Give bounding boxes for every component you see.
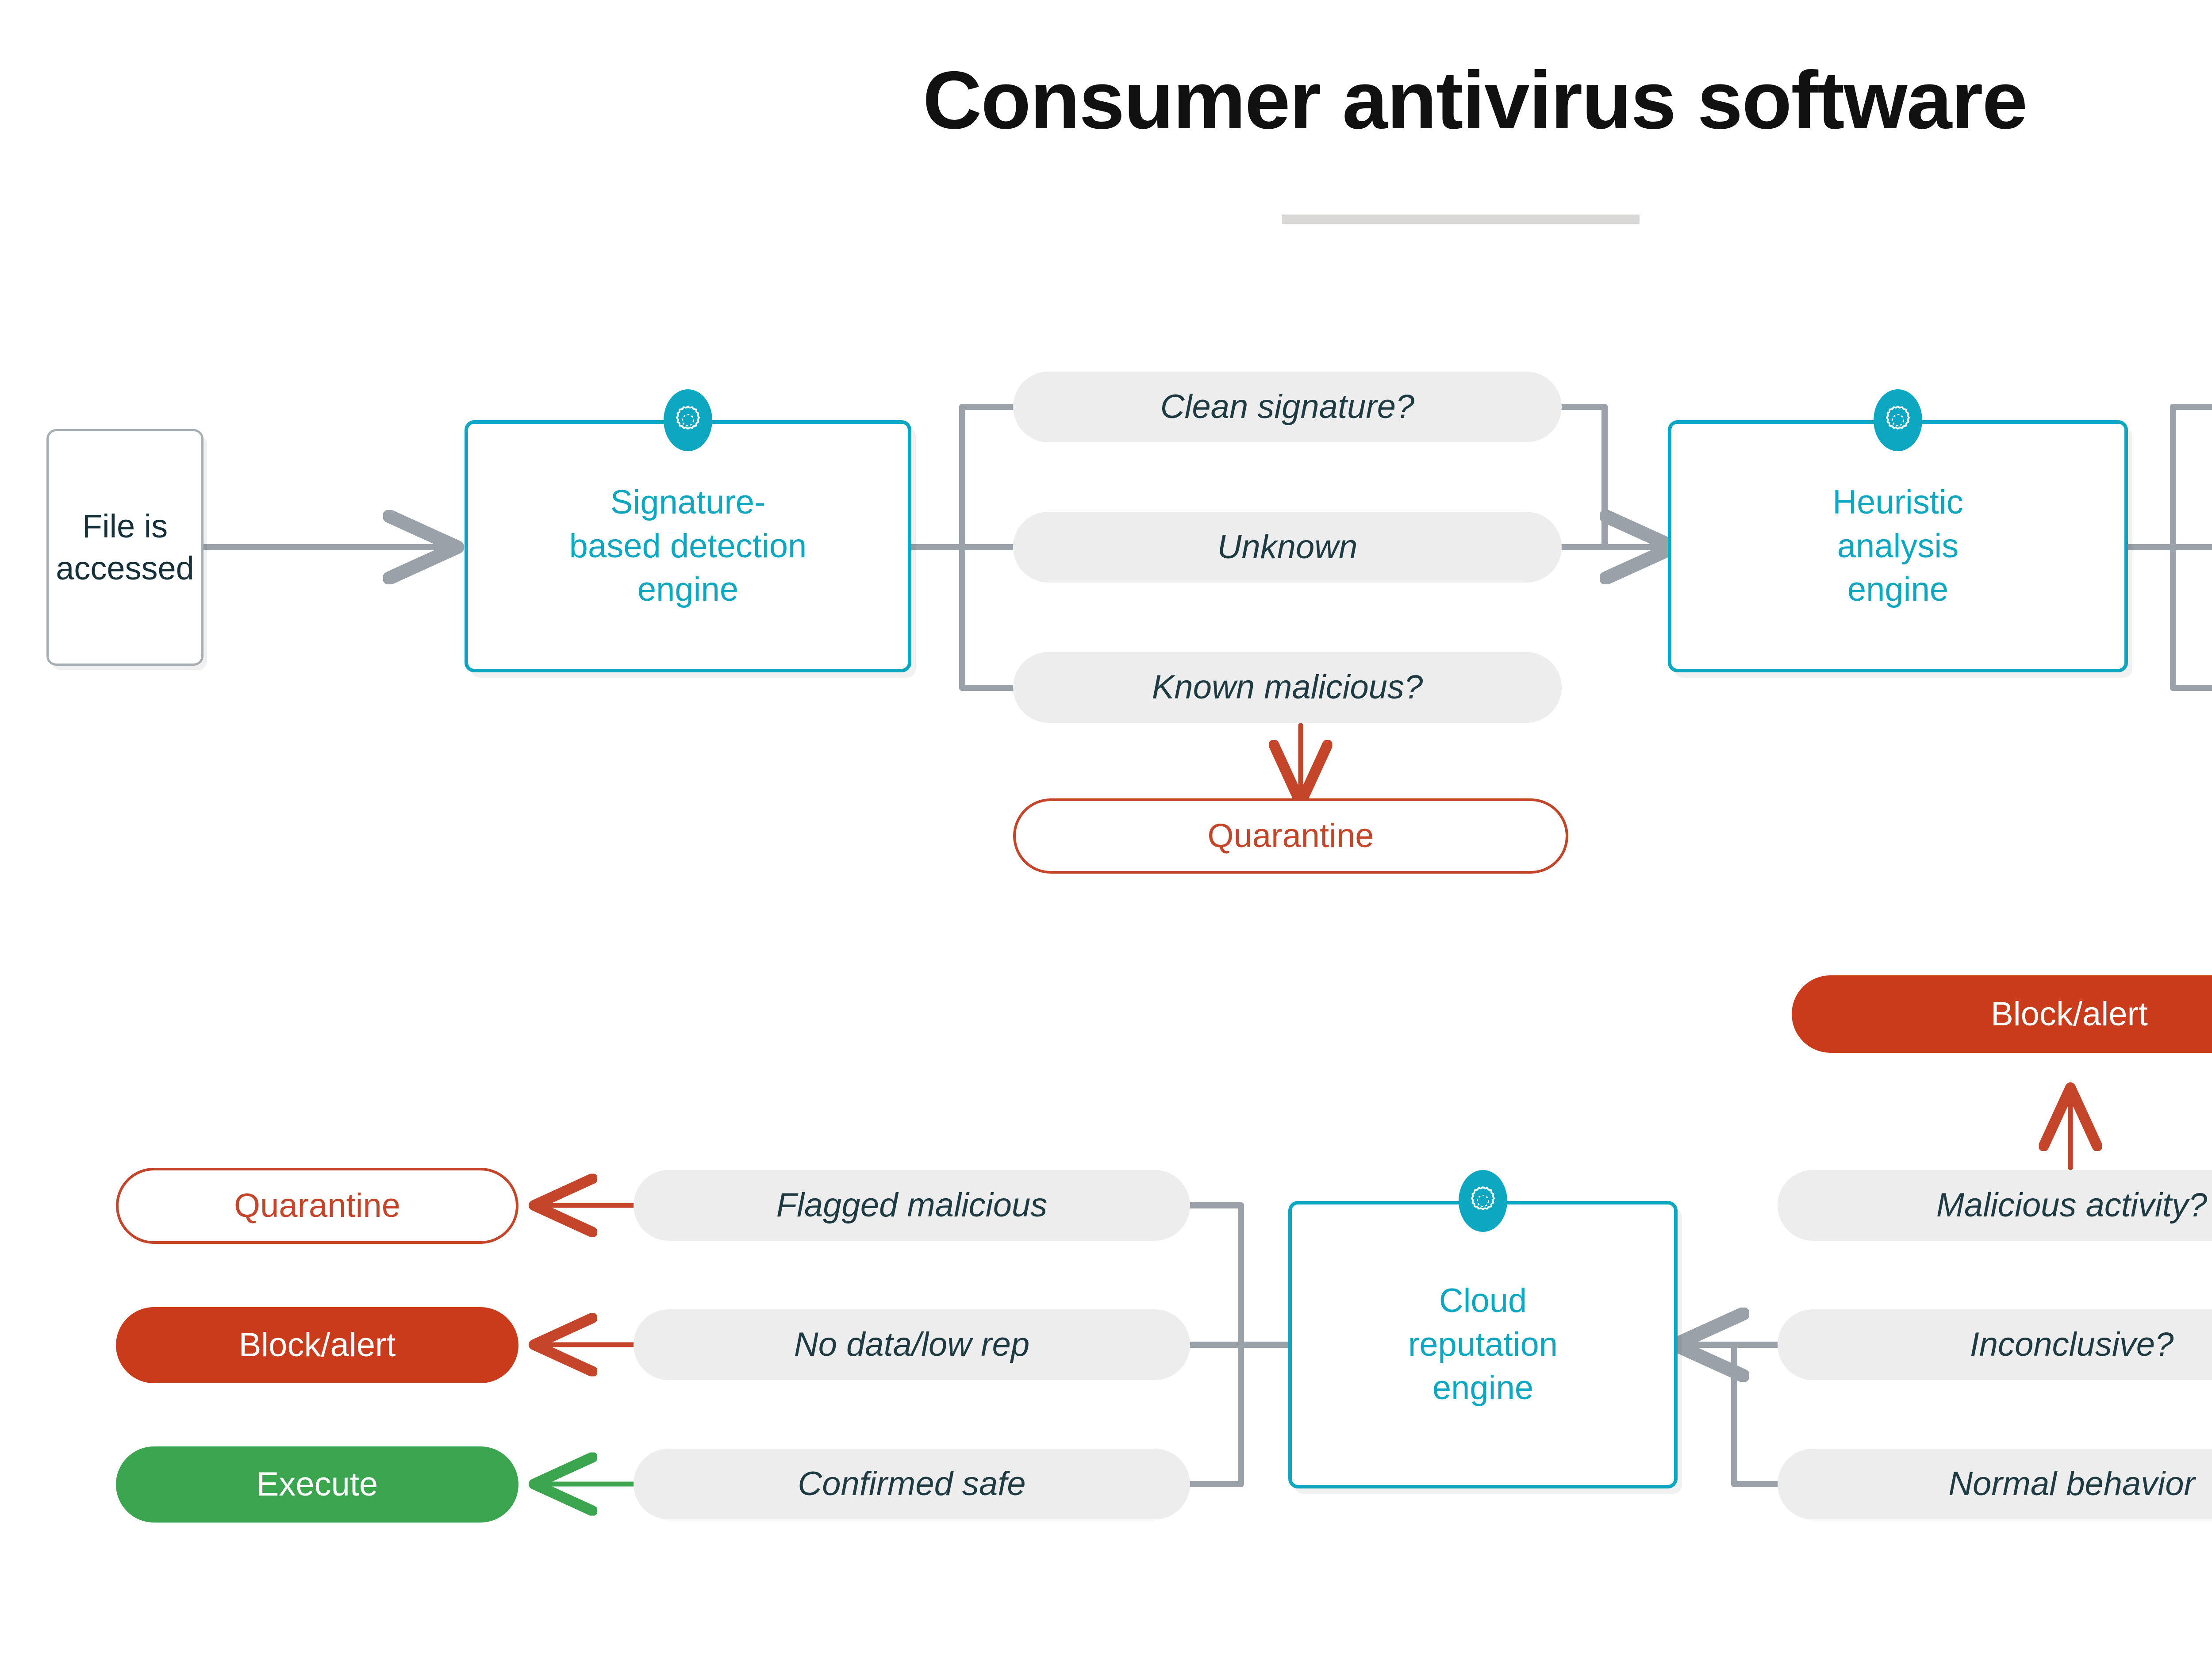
pill-malicious-activity[interactable]: Malicious activity? xyxy=(1778,1170,2212,1241)
action-block-behavior[interactable]: Block/alert xyxy=(1792,975,2212,1053)
pill-label: Confirmed safe xyxy=(798,1467,1025,1501)
node-heuristic-engine[interactable]: Heuristic analysis engine xyxy=(1668,420,2128,672)
pill-inconclusive[interactable]: Inconclusive? xyxy=(1778,1309,2212,1380)
pill-label: Flagged malicious xyxy=(776,1189,1048,1222)
action-quarantine-signature[interactable]: Quarantine xyxy=(1013,798,1568,874)
pill-label: Clean signature? xyxy=(1160,390,1415,424)
pill-label: Malicious activity? xyxy=(1936,1189,2207,1222)
node-label: Signature- based detection engine xyxy=(569,481,807,612)
node-label: Heuristic analysis engine xyxy=(1832,481,1963,612)
node-cloud-engine[interactable]: Cloud reputation engine xyxy=(1288,1201,1678,1488)
pill-unknown[interactable]: Unknown xyxy=(1013,512,1562,583)
pill-label: No data/low rep xyxy=(794,1328,1029,1362)
pill-label: Normal behavior xyxy=(1948,1467,2195,1501)
gear-icon xyxy=(664,389,712,451)
pill-confirmed-safe[interactable]: Confirmed safe xyxy=(634,1449,1190,1519)
pill-no-data-low-rep[interactable]: No data/low rep xyxy=(634,1309,1190,1380)
action-label: Block/alert xyxy=(239,1328,396,1362)
pill-known-malicious[interactable]: Known malicious? xyxy=(1013,652,1562,723)
diagram-canvas: Consumer antivirus software xyxy=(0,0,2212,1657)
pill-label: Unknown xyxy=(1217,530,1358,564)
action-label: Quarantine xyxy=(234,1189,400,1223)
action-execute-cloud[interactable]: Execute xyxy=(116,1446,518,1523)
action-block-cloud[interactable]: Block/alert xyxy=(116,1307,518,1383)
node-label: Cloud reputation engine xyxy=(1408,1279,1558,1410)
pill-label: Known malicious? xyxy=(1152,671,1423,704)
node-signature-engine[interactable]: Signature- based detection engine xyxy=(465,420,911,672)
pill-flagged-malicious[interactable]: Flagged malicious xyxy=(634,1170,1190,1241)
gear-icon xyxy=(1459,1170,1507,1232)
node-label: File is accessed xyxy=(56,506,194,589)
node-file-accessed[interactable]: File is accessed xyxy=(46,429,204,666)
pill-normal-behavior[interactable]: Normal behavior xyxy=(1778,1449,2212,1519)
pill-label: Inconclusive? xyxy=(1970,1328,2174,1362)
action-label: Block/alert xyxy=(1991,997,2148,1031)
action-label: Execute xyxy=(257,1468,378,1501)
pill-clean-signature[interactable]: Clean signature? xyxy=(1013,372,1562,442)
action-label: Quarantine xyxy=(1207,819,1374,853)
action-quarantine-cloud[interactable]: Quarantine xyxy=(116,1168,518,1244)
gear-icon xyxy=(1874,389,1922,451)
